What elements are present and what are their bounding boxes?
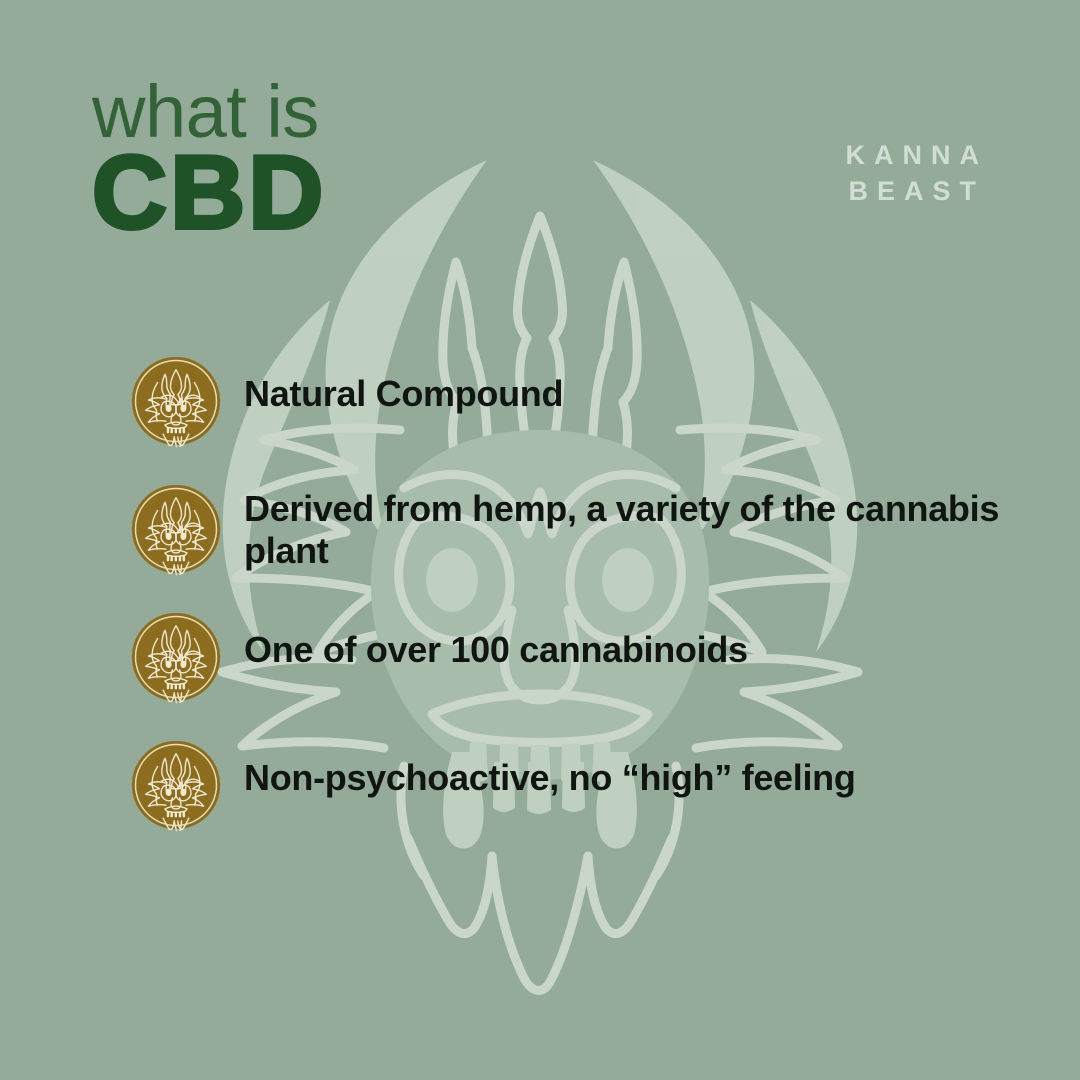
fact-list: Natural Compound [130, 355, 1030, 831]
list-item: Natural Compound [130, 355, 1030, 447]
brand-logo: KANNA BEAST [837, 138, 989, 209]
list-item-label: Natural Compound [244, 355, 563, 415]
barong-mask-medallion-icon [130, 483, 222, 575]
list-item-label: Non-psychoactive, no “high” feeling [244, 739, 856, 799]
list-item: Derived from hemp, a variety of the cann… [130, 483, 1030, 575]
barong-mask-medallion-icon [130, 739, 222, 831]
cbd-infographic-card: .wmF { fill: #c2d2c4; } .wmS { fill: non… [0, 0, 1080, 1080]
list-item-label: One of over 100 cannabinoids [244, 611, 748, 671]
barong-mask-medallion-icon [130, 611, 222, 703]
list-item: One of over 100 cannabinoids [130, 611, 1030, 703]
brand-logo-line2: BEAST [837, 174, 989, 210]
brand-logo-line1: KANNA [837, 138, 989, 174]
list-item: Non-psychoactive, no “high” feeling [130, 739, 1030, 831]
list-item-label: Derived from hemp, a variety of the cann… [244, 483, 1014, 573]
page-title: CBD [92, 146, 326, 242]
barong-mask-medallion-icon [130, 355, 222, 447]
page-title-block: what is CBD [92, 78, 326, 242]
